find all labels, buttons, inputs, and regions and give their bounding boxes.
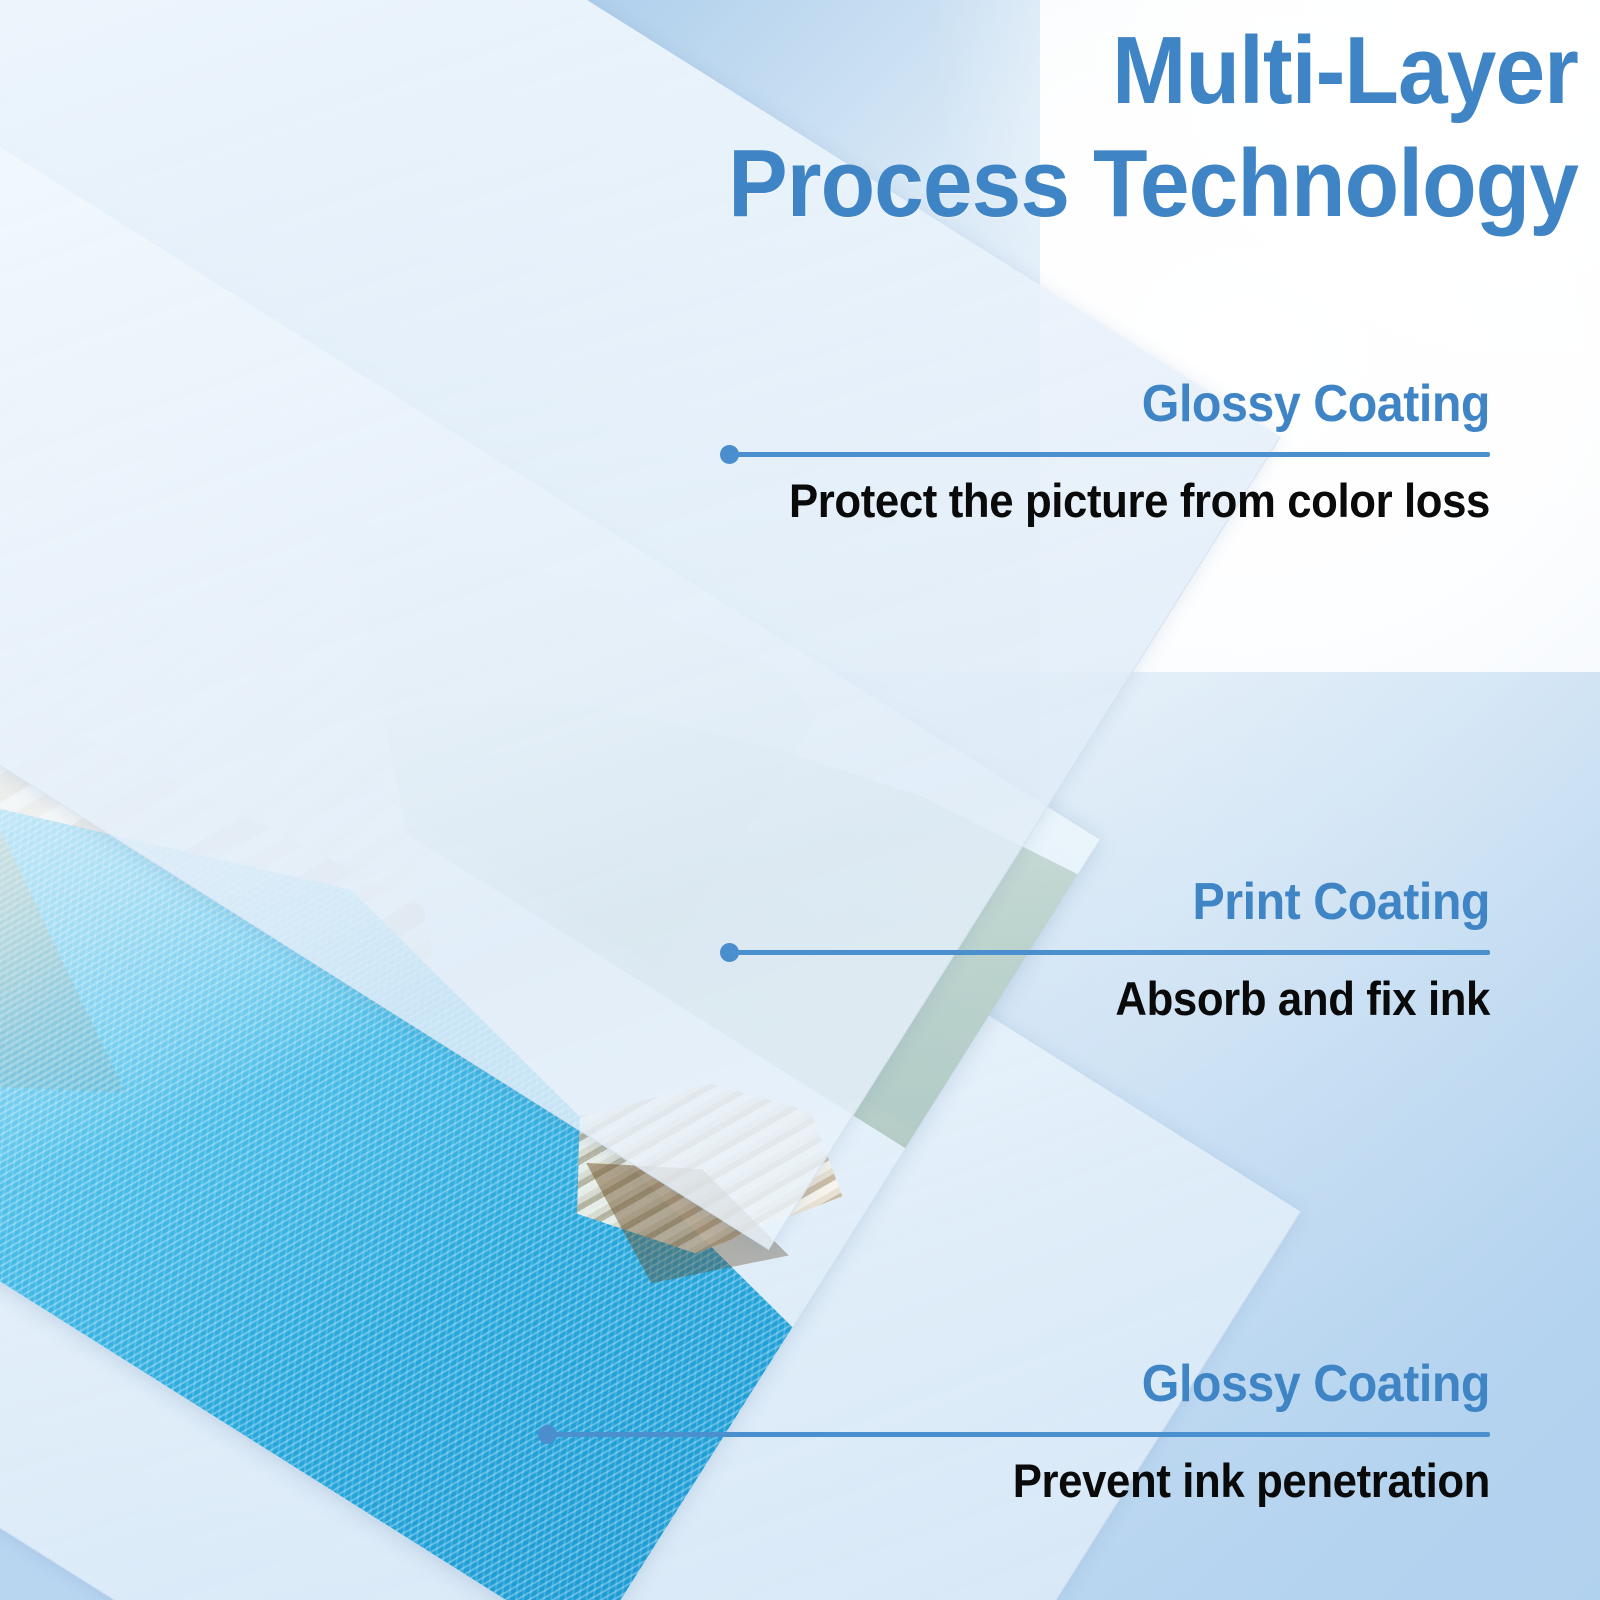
callout-description: Prevent ink penetration [605, 1456, 1490, 1506]
callout-leader-line [538, 1424, 1490, 1444]
callout-description: Absorb and fix ink [774, 974, 1490, 1024]
callout-rule-bar [547, 1432, 1490, 1437]
callout-glossy-coating-bottom: Glossy Coating Prevent ink penetration [538, 1358, 1490, 1506]
callout-leader-line [720, 942, 1490, 962]
callout-print-coating: Print Coating Absorb and fix ink [720, 876, 1490, 1024]
callout-heading: Glossy Coating [774, 378, 1490, 430]
callout-glossy-coating-top: Glossy Coating Protect the picture from … [720, 378, 1490, 526]
callout-leader-line [720, 444, 1490, 464]
callout-rule-bar [729, 452, 1490, 457]
page-title-line-2: Process Technology [499, 127, 1578, 240]
page-title-line-1: Multi-Layer [499, 14, 1578, 127]
callout-description: Protect the picture from color loss [774, 476, 1490, 526]
page-title: Multi-Layer Process Technology [499, 14, 1578, 241]
callout-rule-bar [729, 950, 1490, 955]
callout-heading: Glossy Coating [605, 1358, 1490, 1410]
infographic-canvas: Multi-Layer Process Technology Glossy Co… [0, 0, 1600, 1600]
callout-heading: Print Coating [774, 876, 1490, 928]
